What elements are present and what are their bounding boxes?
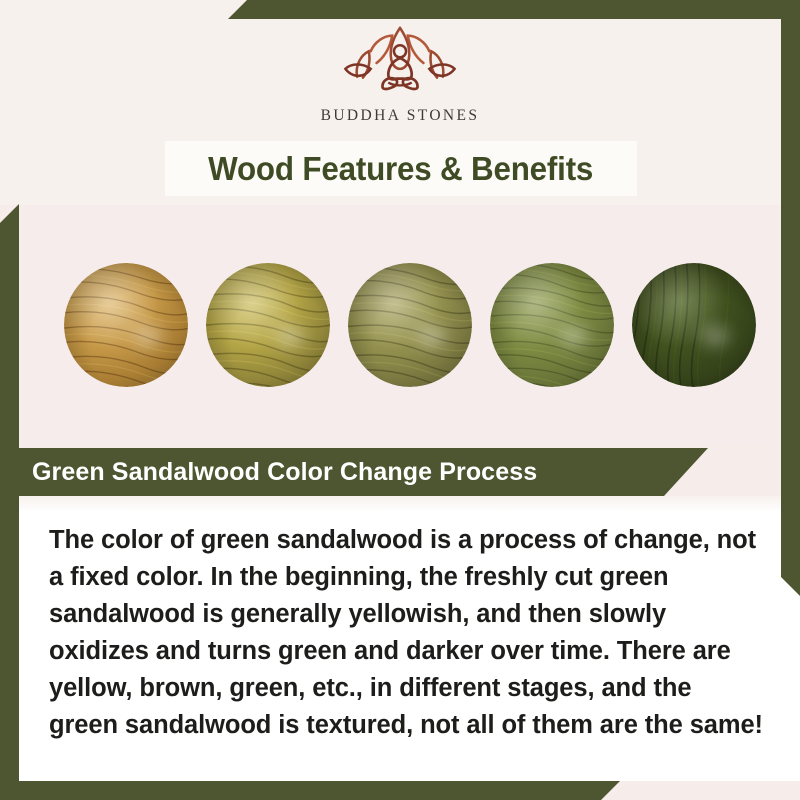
bead-stage-5	[632, 263, 756, 387]
bead-specular-2	[268, 320, 310, 352]
frame-top-band	[228, 0, 800, 19]
bead-shadow-5	[632, 263, 756, 387]
brand-name: BUDDHA STONES	[0, 107, 800, 125]
bead-shadow-2	[206, 263, 330, 387]
frame-left-band	[0, 204, 19, 800]
bead-specular-5	[694, 320, 736, 352]
frame-bottom-band	[0, 781, 620, 800]
bead-shadow-4	[490, 263, 614, 387]
bead-stage-4	[490, 263, 614, 387]
bead-stage-2	[206, 263, 330, 387]
lotus-meditation-icon	[340, 22, 460, 104]
brand-logo-block: BUDDHA STONES	[0, 22, 800, 125]
product-info-poster: The color of green sandalwood is a proce…	[0, 0, 800, 800]
frame-right-band	[781, 0, 800, 596]
bead-stage-1	[64, 263, 188, 387]
description-card: The color of green sandalwood is a proce…	[19, 496, 800, 781]
page-title: Wood Features & Benefits	[208, 150, 593, 188]
section-banner: Green Sandalwood Color Change Process	[0, 448, 708, 496]
description-paragraph: The color of green sandalwood is a proce…	[49, 522, 764, 744]
card-top-fade	[19, 496, 800, 512]
bead-stage-3	[348, 263, 472, 387]
bead-specular-4	[552, 320, 594, 352]
bead-specular-1	[126, 320, 168, 352]
section-banner-title: Green Sandalwood Color Change Process	[32, 458, 537, 487]
bead-gallery-strip	[19, 205, 800, 445]
bead-shadow-3	[348, 263, 472, 387]
bead-shadow-1	[64, 263, 188, 387]
poster-title-box: Wood Features & Benefits	[165, 141, 637, 196]
bead-row	[19, 205, 800, 445]
bead-specular-3	[410, 320, 452, 352]
